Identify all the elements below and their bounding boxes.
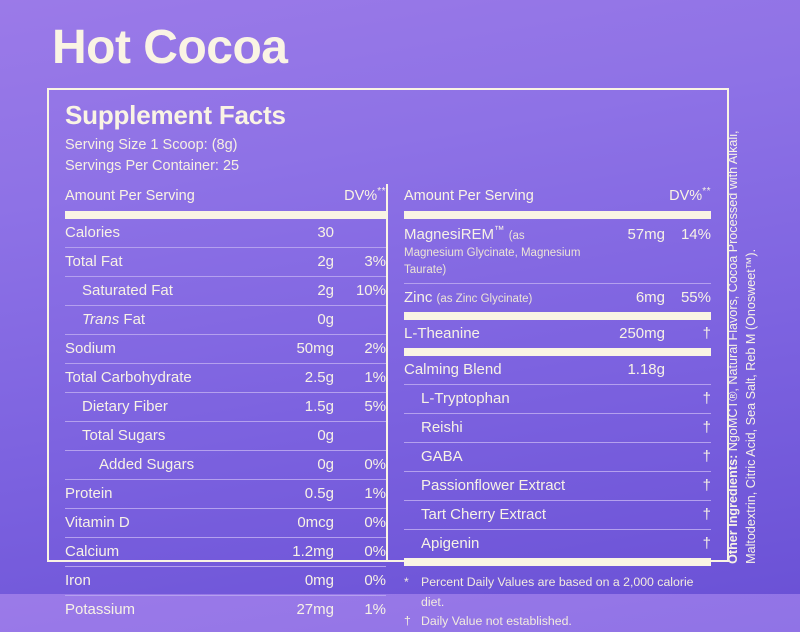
nutrient-amount: 27mg: [260, 601, 334, 618]
blend-item-name: Apigenin: [404, 535, 587, 552]
table-row: Vitamin D0mcg0%: [65, 509, 386, 537]
l-theanine-name: L-Theanine: [404, 325, 587, 342]
blend-item-dv: †: [665, 419, 711, 436]
nutrient-name: Saturated Fat: [65, 282, 260, 299]
row-magnesirem: MagnesiREM™ (as Magnesium Glycinate, Mag…: [404, 219, 711, 283]
calming-blend-name: Calming Blend: [404, 361, 587, 378]
nutrient-dv: 5%: [334, 398, 386, 415]
blend-item-dv: †: [665, 448, 711, 465]
nutrient-name: Calories: [65, 224, 260, 241]
other-ingredients-block: Other Ingredients: NgoMCT®, Natural Flav…: [730, 24, 794, 564]
nutrient-amount: 30: [260, 224, 334, 241]
left-column-header: Amount Per Serving DV%**: [65, 184, 386, 211]
magnesirem-dv: 14%: [665, 226, 711, 243]
l-theanine-amount: 250mg: [587, 325, 665, 342]
nutrient-dv: 0%: [334, 572, 386, 589]
nutrient-amount: 2g: [260, 282, 334, 299]
blend-item-dv: †: [665, 535, 711, 552]
nutrient-amount: 1.2mg: [260, 543, 334, 560]
right-header-separator-bar: [404, 211, 711, 219]
footnote: †Daily Value not established.: [404, 612, 711, 632]
nutrient-dv: 2%: [334, 340, 386, 357]
nutrient-name: Total Sugars: [65, 427, 260, 444]
nutrient-dv: 1%: [334, 601, 386, 618]
zinc-amount: 6mg: [587, 289, 665, 306]
footnotes: *Percent Daily Values are based on a 2,0…: [404, 566, 711, 632]
blend-item-dv: †: [665, 506, 711, 523]
row-calming-blend: Calming Blend 1.18g: [404, 356, 711, 384]
panel-header: Supplement Facts Serving Size 1 Scoop: (…: [49, 90, 727, 184]
nutrient-name: Total Carbohydrate: [65, 369, 260, 386]
nutrient-name: Vitamin D: [65, 514, 260, 531]
nutrient-amount: 1.5g: [260, 398, 334, 415]
table-row: Total Carbohydrate2.5g1%: [65, 364, 386, 392]
left-nutrient-column: Amount Per Serving DV%** Calories30Total…: [65, 184, 386, 560]
zinc-name: Zinc (as Zinc Glycinate): [404, 289, 587, 306]
nutrient-amount: 0.5g: [260, 485, 334, 502]
supplement-facts-panel: Supplement Facts Serving Size 1 Scoop: (…: [47, 88, 729, 562]
footnote-text: Daily Value not established.: [421, 612, 572, 632]
blend-item-name: Tart Cherry Extract: [404, 506, 587, 523]
nutrient-amount: 0g: [260, 427, 334, 444]
nutrient-dv: 1%: [334, 485, 386, 502]
footnote-text: Percent Daily Values are based on a 2,00…: [421, 573, 711, 612]
right-ingredient-column: Amount Per Serving DV%** MagnesiREM™ (as…: [388, 184, 711, 560]
zinc-dv: 55%: [665, 289, 711, 306]
row-zinc: Zinc (as Zinc Glycinate) 6mg 55%: [404, 284, 711, 312]
blend-item-name: Passionflower Extract: [404, 477, 587, 494]
calming-blend-items: L-Tryptophan†Reishi†GABA†Passionflower E…: [404, 384, 711, 558]
nutrient-amount: 0mcg: [260, 514, 334, 531]
table-row: Total Fat2g3%: [65, 248, 386, 276]
separator-bar-above-footnotes: [404, 558, 711, 566]
nutrient-name: Calcium: [65, 543, 260, 560]
nutrient-name: Added Sugars: [65, 456, 260, 473]
nutrient-name: Sodium: [65, 340, 260, 357]
footnote: *Percent Daily Values are based on a 2,0…: [404, 573, 711, 612]
header-separator-bar: [65, 211, 386, 219]
table-row: Protein0.5g1%: [65, 480, 386, 508]
supplement-facts-heading: Supplement Facts: [65, 100, 711, 131]
dv-percent-label: DV%**: [344, 186, 386, 204]
table-row: Total Sugars0g: [65, 422, 386, 450]
other-ingredients-line-1: Other Ingredients: NgoMCT®, Natural Flav…: [724, 131, 743, 564]
other-ingredients-line-1-text: NgoMCT®, Natural Flavors, Cocoa Processe…: [726, 131, 740, 455]
blend-item-name: GABA: [404, 448, 587, 465]
nutrition-columns: Amount Per Serving DV%** Calories30Total…: [49, 184, 727, 560]
zinc-descriptor: (as Zinc Glycinate): [437, 293, 533, 305]
nutrient-name: Total Fat: [65, 253, 260, 270]
nutrient-amount: 2g: [260, 253, 334, 270]
nutrient-dv: 3%: [334, 253, 386, 270]
calming-blend-amount: 1.18g: [587, 361, 665, 378]
nutrient-dv: 10%: [334, 282, 386, 299]
nutrient-amount: 2.5g: [260, 369, 334, 386]
nutrient-amount: 50mg: [260, 340, 334, 357]
nutrient-dv: 0%: [334, 543, 386, 560]
right-column-header: Amount Per Serving DV%**: [404, 184, 711, 211]
table-row: L-Tryptophan†: [404, 385, 711, 413]
table-row: Saturated Fat2g10%: [65, 277, 386, 305]
table-row: Dietary Fiber1.5g5%: [65, 393, 386, 421]
other-ingredients-line-2: Maltodextrin, Citric Acid, Sea Salt, Reb…: [742, 249, 761, 564]
table-row: Sodium50mg2%: [65, 335, 386, 363]
table-row: GABA†: [404, 443, 711, 471]
page-title: Hot Cocoa: [52, 18, 288, 78]
magnesirem-amount: 57mg: [587, 226, 665, 243]
footnote-marker: *: [404, 573, 421, 612]
table-row: Added Sugars0g0%: [65, 451, 386, 479]
nutrient-name-italic: Trans: [82, 311, 119, 328]
table-row: Apigenin†: [404, 530, 711, 558]
blend-item-dv: †: [665, 477, 711, 494]
table-row: Iron0mg0%: [65, 567, 386, 595]
nutrient-name: Dietary Fiber: [65, 398, 260, 415]
nutrient-dv: 0%: [334, 514, 386, 531]
table-row: Reishi†: [404, 414, 711, 442]
nutrient-amount: 0g: [260, 456, 334, 473]
nutrient-name: Iron: [65, 572, 260, 589]
nutrient-name: Trans Fat: [65, 311, 260, 328]
blend-item-name: Reishi: [404, 419, 587, 436]
nutrient-amount: 0mg: [260, 572, 334, 589]
l-theanine-dv: †: [665, 325, 711, 342]
table-row: Passionflower Extract†: [404, 472, 711, 500]
table-row: Potassium27mg1%: [65, 596, 386, 624]
other-ingredients-label: Other Ingredients:: [726, 455, 740, 564]
nutrient-amount: 0g: [260, 311, 334, 328]
table-row: Tart Cherry Extract†: [404, 501, 711, 529]
row-l-theanine: L-Theanine 250mg †: [404, 320, 711, 348]
table-row: Calcium1.2mg0%: [65, 538, 386, 566]
serving-size: Serving Size 1 Scoop: (8g): [65, 135, 711, 156]
separator-bar-above-calming-blend: [404, 348, 711, 356]
separator-bar-above-theanine: [404, 312, 711, 320]
nutrient-name: Potassium: [65, 601, 260, 618]
footnote-marker: †: [404, 612, 421, 632]
table-row: Calories30: [65, 219, 386, 247]
left-nutrient-rows: Calories30Total Fat2g3%Saturated Fat2g10…: [65, 219, 386, 624]
table-row: Trans Fat0g: [65, 306, 386, 334]
magnesirem-name: MagnesiREM™ (as Magnesium Glycinate, Mag…: [404, 224, 587, 277]
nutrient-name: Protein: [65, 485, 260, 502]
amount-per-serving-label-right: Amount Per Serving: [404, 188, 669, 204]
dv-percent-label-right: DV%**: [669, 186, 711, 204]
blend-item-dv: †: [665, 390, 711, 407]
nutrient-dv: 1%: [334, 369, 386, 386]
amount-per-serving-label: Amount Per Serving: [65, 188, 344, 204]
servings-per-container: Servings Per Container: 25: [65, 156, 711, 177]
nutrient-dv: 0%: [334, 456, 386, 473]
blend-item-name: L-Tryptophan: [404, 390, 587, 407]
trademark-icon: ™: [494, 224, 505, 236]
